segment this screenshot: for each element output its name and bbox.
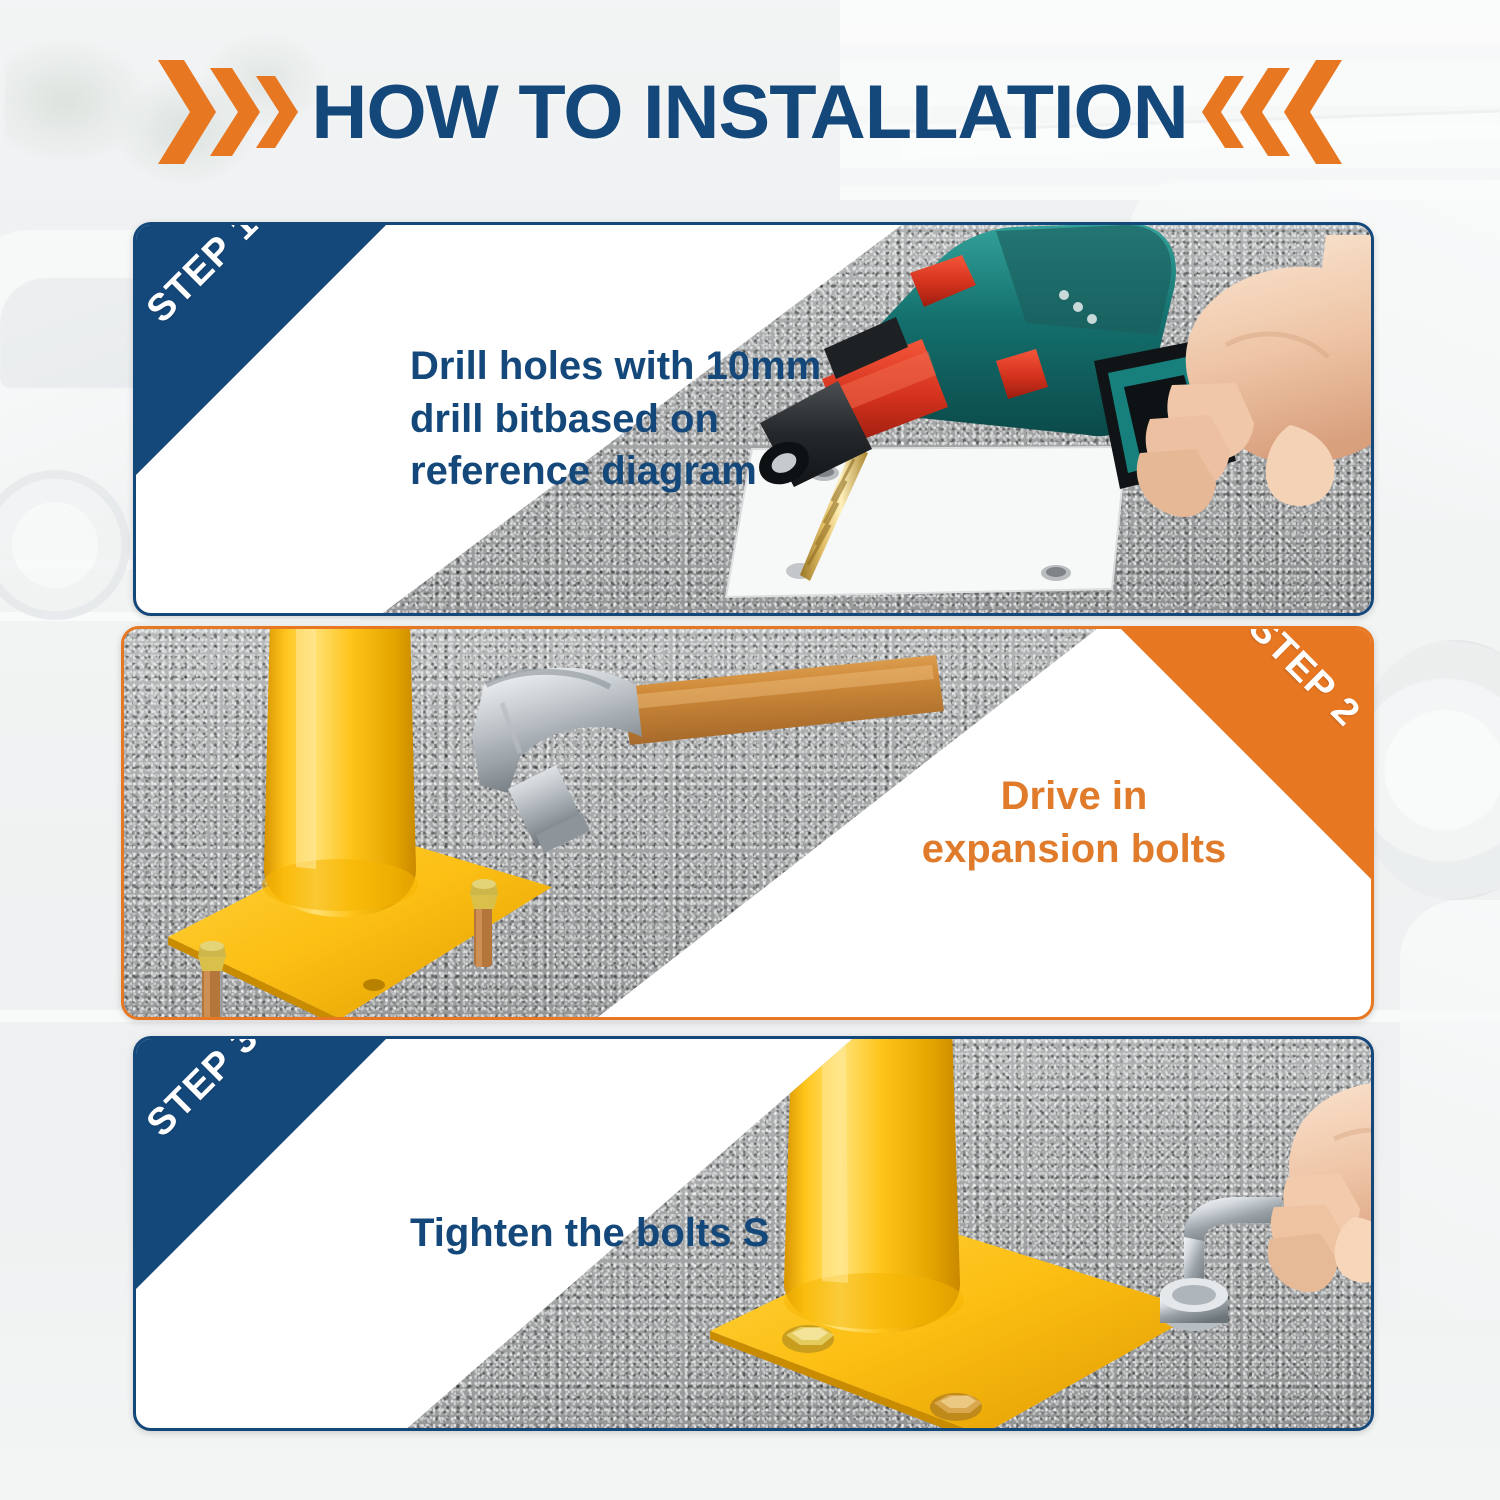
chevron-left-icon	[1240, 68, 1290, 156]
chevron-left-icon	[1284, 60, 1342, 164]
step-1-text-zone: Drill holes with 10mm drill bitbased on …	[410, 225, 930, 613]
step-panel-3: STEP 3 Tighten the bolts S	[133, 1036, 1374, 1431]
step-2-badge: STEP 2	[1121, 629, 1371, 879]
bolt-head	[930, 1393, 982, 1421]
step-2-badge-triangle	[1121, 629, 1371, 879]
chevron-left-icon	[1202, 76, 1244, 148]
step-3-text-zone: Tighten the bolts S	[410, 1039, 930, 1428]
step-panel-1: STEP 1 Drill holes with 10mm drill bitba…	[133, 222, 1374, 616]
hand-icon	[1226, 1049, 1374, 1329]
hand-icon	[1076, 235, 1374, 555]
step-3-badge: STEP 3	[136, 1039, 386, 1289]
chevron-right-icon	[158, 60, 216, 164]
chevrons-left	[158, 60, 298, 164]
chevron-right-icon	[256, 76, 298, 148]
step-1-badge-triangle	[136, 225, 386, 475]
step-3-badge-triangle	[136, 1039, 386, 1289]
step-3-description: Tighten the bolts S	[410, 1207, 930, 1260]
page-header: HOW TO INSTALLATION	[0, 52, 1500, 172]
chevron-right-icon	[210, 68, 260, 156]
step-1-badge: STEP 1	[136, 225, 386, 475]
step-panel-2: STEP 2 Drive in expansion bolts	[121, 626, 1374, 1020]
page-title: HOW TO INSTALLATION	[312, 69, 1188, 156]
expansion-bolt-icon	[182, 939, 242, 1020]
chevrons-right	[1202, 60, 1342, 164]
step-1-description: Drill holes with 10mm drill bitbased on …	[410, 340, 930, 498]
